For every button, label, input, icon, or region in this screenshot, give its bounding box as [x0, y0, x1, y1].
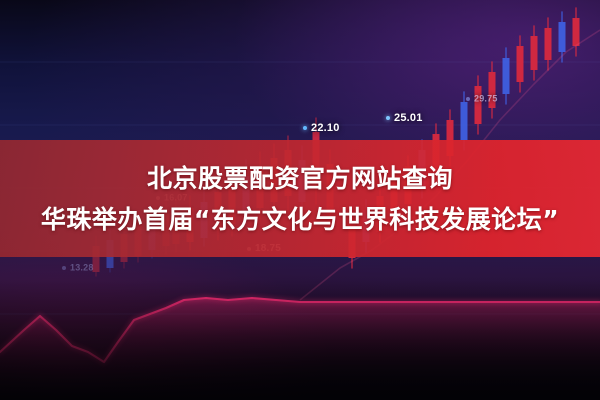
banner-image: 22.10 25.01 29.75 16.07 18.75 13.28 北京股票… — [0, 0, 600, 400]
area-fill — [0, 298, 600, 400]
headline-banner-inner: 北京股票配资官方网站查询 华珠举办首届“东方文化与世界科技发展论坛” — [20, 158, 580, 240]
page-title: 北京股票配资官方网站查询 华珠举办首届“东方文化与世界科技发展论坛” — [20, 158, 580, 240]
headline-banner: 北京股票配资官方网站查询 华珠举办首届“东方文化与世界科技发展论坛” — [0, 140, 600, 257]
